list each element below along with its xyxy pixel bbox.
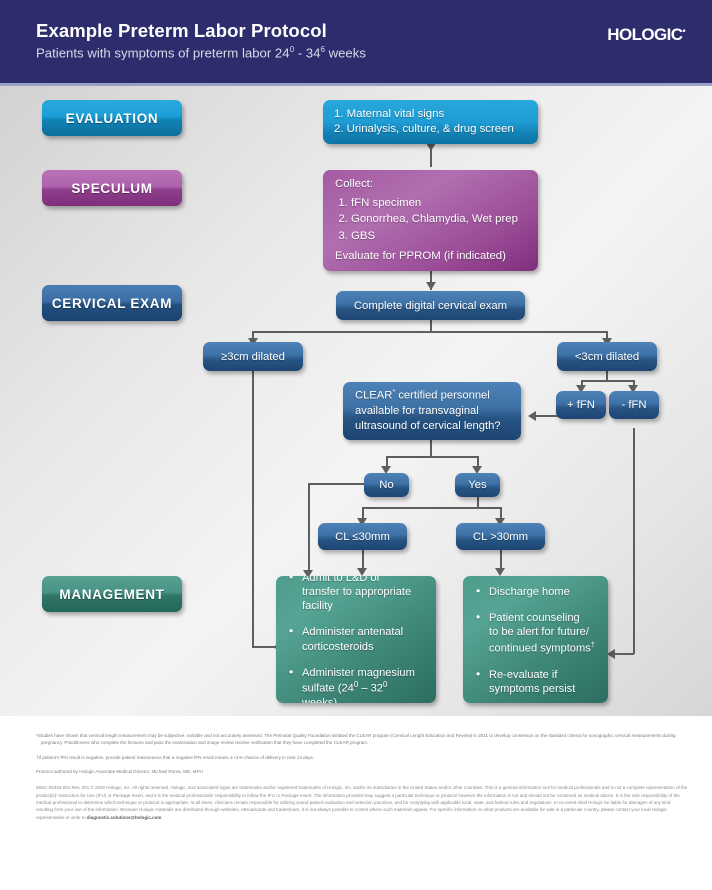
discharge-bullet-3-line-1: Re-evaluate if	[489, 669, 557, 681]
node-speculum-collect-text: Collect: fFN specimen Gonorrhea, Chlamyd…	[323, 170, 530, 271]
logo-trademark: •	[682, 25, 685, 35]
discharge-bullet-3: Re-evaluate if symptoms persist	[475, 668, 595, 696]
answer-no-label: No	[379, 479, 393, 491]
clear-question-line-1: CLEAR* certified personnel	[355, 387, 501, 404]
cl-gt-30mm-label: CL >30mm	[473, 531, 528, 543]
node-ffn-negative[interactable]: - fFN	[609, 391, 659, 419]
subtitle-post: weeks	[325, 45, 366, 60]
admit-bullet-1-line-3: facility	[302, 600, 333, 612]
footnote-legal-disclaimer: MISC-06334-001 Rev. 001 © 2020 Hologic, …	[36, 784, 688, 820]
arrow-eval-to-speculum	[426, 143, 436, 151]
speculum-collect-label: Collect:	[335, 177, 518, 192]
node-clear-question[interactable]: CLEAR* certified personnel available for…	[343, 382, 521, 440]
admit-bullet-3-line-1: Administer magnesium	[302, 667, 415, 679]
contact-email[interactable]: diagnostic.solutions@hologic.com	[87, 815, 162, 820]
admit-bullet-3-sup-32: 0	[383, 680, 387, 689]
arrow-cl-gt30-to-discharge	[495, 568, 505, 576]
arrow-speculum-to-exam	[426, 282, 436, 290]
connector-ffn-bus	[581, 380, 633, 382]
hologic-logo: HOLOGIC•	[607, 25, 685, 45]
protocol-page: Example Preterm Labor Protocol Patients …	[0, 0, 712, 890]
evaluation-item-1: 1. Maternal vital signs	[334, 107, 514, 122]
stage-evaluation-label: EVALUATION	[66, 111, 159, 126]
evaluation-item-2: 2. Urinalysis, culture, & drug screen	[334, 122, 514, 137]
answer-yes-label: Yes	[468, 479, 486, 491]
discharge-bullet-2-line-1: Patient counseling	[489, 612, 580, 624]
connector-ffnpos-to-clear	[534, 415, 558, 417]
node-admit-management-text: Admit to L&D or transfer to appropriate …	[276, 576, 436, 703]
admit-bullet-list: Admit to L&D or transfer to appropriate …	[288, 576, 424, 703]
speculum-collect-list: fFN specimen Gonorrhea, Chlamydia, Wet p…	[351, 196, 518, 244]
admit-bullet-3-pre: sulfate (24	[302, 683, 354, 695]
subtitle-mid: - 34	[294, 45, 320, 60]
dilated-ge3cm-label: ≥3cm dilated	[221, 351, 285, 363]
node-dilated-lt3cm[interactable]: <3cm dilated	[557, 342, 657, 371]
discharge-bullet-2-line-3: continued symptoms	[489, 642, 591, 654]
ffn-positive-label: + fFN	[567, 399, 595, 411]
clear-label: CLEAR	[355, 390, 392, 402]
admit-bullet-2: Administer antenatal corticosteroids	[288, 625, 424, 653]
node-cl-le-30mm-inner: CL ≤30mm	[318, 523, 407, 550]
stage-speculum[interactable]: SPECULUM	[42, 170, 182, 206]
discharge-bullet-2-line-2: to be alert for future/	[489, 626, 589, 638]
ffn-negative-label: - fFN	[621, 399, 646, 411]
admit-bullet-1-line-1: Admit to L&D or	[302, 576, 380, 584]
node-answer-yes[interactable]: Yes	[455, 473, 500, 497]
logo-text: HOLOGIC	[607, 25, 682, 44]
admit-bullet-2-line-2: corticosteroids	[302, 641, 374, 653]
footnotes-section: *Studies have shown that cervical length…	[0, 716, 712, 890]
connector-ge3-down	[252, 371, 254, 647]
admit-bullet-3: Administer magnesium sulfate (240 – 320 …	[288, 666, 424, 703]
digital-cervical-exam-label: Complete digital cervical exam	[354, 300, 507, 312]
page-header: Example Preterm Labor Protocol Patients …	[0, 0, 712, 83]
node-discharge-management[interactable]: Discharge home Patient counseling to be …	[463, 576, 608, 703]
connector-ffnneg-to-discharge	[614, 653, 634, 655]
page-title: Example Preterm Labor Protocol	[36, 20, 327, 42]
stage-cervical-exam-inner: CERVICAL EXAM	[42, 285, 182, 321]
node-discharge-management-text: Discharge home Patient counseling to be …	[463, 576, 607, 703]
node-answer-no[interactable]: No	[364, 473, 409, 497]
speculum-item-2: Gonorrhea, Chlamydia, Wet prep	[351, 212, 518, 227]
node-cl-le-30mm[interactable]: CL ≤30mm	[318, 523, 407, 550]
connector-exam-bus	[252, 331, 607, 333]
discharge-bullet-3-line-2: symptoms persist	[489, 683, 575, 695]
admit-bullet-3-post: weeks)	[302, 697, 337, 703]
page-subtitle: Patients with symptoms of preterm labor …	[36, 45, 366, 60]
connector-clear-down	[430, 440, 432, 457]
discharge-bullet-1: Discharge home	[475, 585, 595, 599]
connector-ffnneg-down	[633, 428, 635, 654]
stage-cervical-exam-label: CERVICAL EXAM	[52, 296, 172, 311]
node-answer-no-inner: No	[364, 473, 409, 497]
clear-question-line-2: available for transvaginal	[355, 404, 501, 419]
stage-evaluation-inner: EVALUATION	[42, 100, 182, 136]
node-digital-cervical-exam-inner: Complete digital cervical exam	[336, 291, 525, 320]
stage-speculum-inner: SPECULUM	[42, 170, 182, 206]
node-dilated-ge3cm[interactable]: ≥3cm dilated	[203, 342, 303, 371]
node-ffn-negative-inner: - fFN	[609, 391, 659, 419]
speculum-item-1: fFN specimen	[351, 196, 518, 211]
arrow-ffnpos-to-clear	[528, 411, 536, 421]
clear-question-line-3: ultrasound of cervical length?	[355, 419, 501, 434]
subtitle-pre: Patients with symptoms of preterm labor …	[36, 45, 290, 60]
footnote-ffn-negative: †If patient's fFN result is negative, pr…	[36, 754, 688, 761]
dilated-lt3cm-label: <3cm dilated	[575, 351, 639, 363]
admit-bullet-3-mid: – 32	[358, 683, 383, 695]
node-clear-question-text: CLEAR* certified personnel available for…	[343, 382, 513, 440]
node-admit-management[interactable]: Admit to L&D or transfer to appropriate …	[276, 576, 436, 703]
stage-speculum-label: SPECULUM	[71, 181, 152, 196]
node-speculum-collect[interactable]: Collect: fFN specimen Gonorrhea, Chlamyd…	[323, 170, 538, 271]
stage-management-inner: MANAGEMENT	[42, 576, 182, 612]
arrow-cl-le30-to-admit	[357, 568, 367, 576]
footnote-protocol-author: Protocol authored by Hologic Associate M…	[36, 768, 688, 775]
cl-le-30mm-label: CL ≤30mm	[335, 531, 390, 543]
node-evaluation-orders-text: 1. Maternal vital signs 2. Urinalysis, c…	[323, 100, 525, 144]
stage-evaluation[interactable]: EVALUATION	[42, 100, 182, 136]
node-cl-gt-30mm[interactable]: CL >30mm	[456, 523, 545, 550]
node-ffn-positive-inner: + fFN	[556, 391, 606, 419]
clear-line-1-rest: certified personnel	[395, 390, 490, 402]
flowchart-canvas: EVALUATION SPECULUM CERVICAL EXAM MANAGE…	[0, 86, 712, 716]
arrow-ffnneg-to-discharge	[607, 649, 615, 659]
discharge-bullet-2: Patient counseling to be alert for futur…	[475, 611, 595, 655]
admit-bullet-1: Admit to L&D or transfer to appropriate …	[288, 576, 424, 613]
admit-bullet-1-line-2: transfer to appropriate	[302, 586, 411, 598]
admit-bullet-2-line-1: Administer antenatal	[302, 626, 403, 638]
footnote-clear-program: *Studies have shown that cervical length…	[36, 732, 688, 747]
connector-clear-bus	[386, 456, 478, 458]
node-evaluation-orders[interactable]: 1. Maternal vital signs 2. Urinalysis, c…	[323, 100, 538, 144]
connector-no-down	[308, 484, 310, 574]
node-answer-yes-inner: Yes	[455, 473, 500, 497]
node-ffn-positive[interactable]: + fFN	[556, 391, 606, 419]
stage-management[interactable]: MANAGEMENT	[42, 576, 182, 612]
speculum-item-3: GBS	[351, 229, 518, 244]
stage-management-label: MANAGEMENT	[59, 587, 164, 602]
discharge-bullet-list: Discharge home Patient counseling to be …	[475, 585, 595, 696]
node-digital-cervical-exam[interactable]: Complete digital cervical exam	[336, 291, 525, 320]
connector-cl-bus	[362, 507, 500, 509]
node-dilated-ge3cm-inner: ≥3cm dilated	[203, 342, 303, 371]
speculum-evaluate-pprom: Evaluate for PPROM (if indicated)	[335, 249, 518, 264]
discharge-bullet-2-dagger: †	[591, 640, 595, 649]
node-dilated-lt3cm-inner: <3cm dilated	[557, 342, 657, 371]
node-cl-gt-30mm-inner: CL >30mm	[456, 523, 545, 550]
stage-cervical-exam[interactable]: CERVICAL EXAM	[42, 285, 182, 321]
